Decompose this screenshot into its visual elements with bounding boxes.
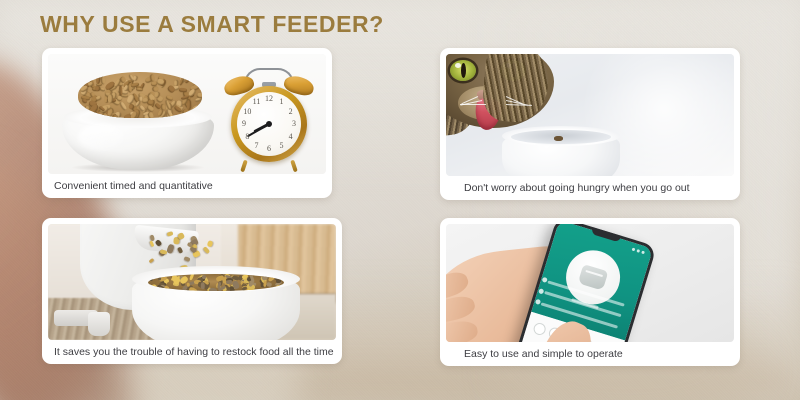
- clock-bezel: 121234567891011: [231, 86, 307, 162]
- white-bowl-illustration: [502, 130, 620, 176]
- kibble-piece: [96, 95, 102, 101]
- kibble-mound: [78, 72, 202, 118]
- feature-card-timed-feeding[interactable]: 121234567891011 Convenient timed and qua…: [42, 48, 332, 198]
- feature-card-caption: Don't worry about going hungry when you …: [446, 176, 734, 200]
- kibble-piece: [120, 101, 128, 110]
- kibble-piece: [136, 88, 144, 92]
- clock-numeral-2: 2: [286, 107, 296, 117]
- clock-foot-right: [290, 160, 298, 173]
- feature-card-no-hunger[interactable]: Don't worry about going hungry when you …: [440, 48, 740, 200]
- bowl-kibble-piece: [188, 286, 198, 291]
- kibble-piece: [187, 100, 191, 110]
- feeder-bowl-illustration: [132, 272, 300, 340]
- feature-card-caption: Easy to use and simple to operate: [446, 342, 734, 366]
- clock-numeral-5: 5: [277, 141, 287, 151]
- clock-numeral-3: 3: [289, 119, 299, 129]
- feature-card-caption: Convenient timed and quantitative: [48, 174, 326, 198]
- clock-center-pin: [266, 121, 272, 127]
- clock-face: 121234567891011: [237, 92, 301, 156]
- feature-card-image-bowl-and-clock: 121234567891011: [48, 54, 326, 174]
- clock-numeral-12: 12: [264, 94, 274, 104]
- hand-finger: [446, 319, 479, 342]
- cat-fur-right: [481, 54, 552, 125]
- app-keypad-button[interactable]: [532, 321, 547, 336]
- app-status-dots: [632, 248, 645, 255]
- kibble-bowl-illustration: [62, 98, 214, 170]
- kibble-piece: [119, 85, 122, 95]
- clock-numeral-6: 6: [264, 144, 274, 154]
- page-title: WHY USE A SMART FEEDER?: [40, 11, 384, 38]
- cat-pupil-left: [461, 63, 466, 78]
- kibble-piece: [96, 73, 100, 83]
- app-device-icon-detail: [585, 270, 603, 277]
- clock-numeral-4: 4: [286, 132, 296, 142]
- feature-card-image-phone-app: [446, 224, 734, 342]
- app-feeder-device-icon: [578, 264, 609, 291]
- bowl-kibble-piece: [266, 282, 272, 287]
- bowl-food-crumb: [554, 136, 563, 141]
- bowl-kibble-piece: [149, 276, 155, 282]
- feeder-bowl-food: [148, 274, 284, 291]
- clock-numeral-10: 10: [242, 107, 252, 117]
- kibble-piece: [112, 114, 118, 118]
- alarm-clock-illustration: 121234567891011: [226, 68, 312, 172]
- clock-numeral-7: 7: [252, 141, 262, 151]
- feature-card-app-control[interactable]: Easy to use and simple to operate: [440, 218, 740, 366]
- falling-kibble-piece: [191, 247, 197, 252]
- cat-whisker: [460, 104, 486, 105]
- feature-card-image-cat-licking: [446, 54, 734, 176]
- kibble-piece: [142, 98, 148, 103]
- clock-foot-left: [240, 160, 248, 173]
- bowl-kibble-piece: [276, 279, 281, 283]
- clock-numeral-8: 8: [242, 132, 252, 142]
- feature-card-image-feeder-dispensing: [48, 224, 336, 340]
- kibble-piece: [179, 87, 187, 91]
- kibble-piece: [150, 74, 155, 82]
- feature-card-auto-restock[interactable]: It saves you the trouble of having to re…: [42, 218, 342, 364]
- bowl-kibble-piece: [232, 280, 240, 289]
- cat-eye-left: [450, 60, 476, 81]
- cat-eye-highlight-left: [455, 63, 461, 68]
- bowl-kibble-piece: [226, 279, 232, 283]
- bowl-highlight: [78, 124, 124, 150]
- feature-card-caption: It saves you the trouble of having to re…: [48, 340, 336, 364]
- smart-feeder-leg: [88, 312, 110, 336]
- bowl-kibble-piece: [200, 282, 204, 289]
- clock-numeral-11: 11: [252, 97, 262, 107]
- kibble-piece: [94, 85, 100, 92]
- clock-numeral-9: 9: [239, 119, 249, 129]
